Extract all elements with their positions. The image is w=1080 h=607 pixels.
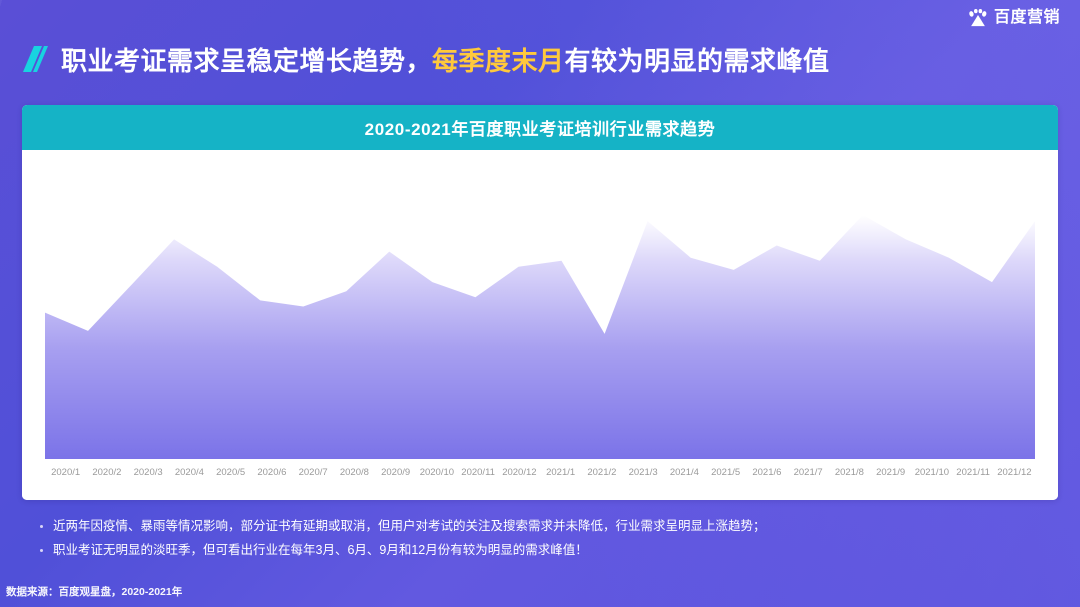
bullet-text: 职业考证无明显的淡旺季，但可看出行业在每年3月、6月、9月和12月份有较为明显的… (53, 540, 588, 561)
page-headline: 职业考证需求呈稳定增长趋势，每季度末月有较为明显的需求峰值 (22, 38, 1060, 80)
baidu-marketing-logo: 百度营销 (968, 9, 1060, 27)
x-axis-tick: 2020/7 (293, 462, 334, 484)
x-axis-tick: 2021/11 (953, 462, 994, 484)
x-axis-tick: 2020/1 (45, 462, 86, 484)
bullet-dot-icon (40, 525, 43, 528)
x-axis-tick: 2021/8 (829, 462, 870, 484)
list-item: 近两年因疫情、暴雨等情况影响，部分证书有延期或取消，但用户对考试的关注及搜索需求… (40, 516, 1050, 537)
area-chart (45, 154, 1035, 459)
insight-bullets: 近两年因疫情、暴雨等情况影响，部分证书有延期或取消，但用户对考试的关注及搜索需求… (40, 516, 1050, 564)
x-axis-tick: 2020/10 (416, 462, 457, 484)
chart-plot-area: 2020/12020/22020/32020/42020/52020/62020… (22, 150, 1058, 500)
x-axis-tick: 2020/12 (499, 462, 540, 484)
double-slash-icon (22, 44, 48, 74)
chart-title: 2020-2021年百度职业考证培训行业需求趋势 (365, 115, 716, 140)
x-axis-tick: 2020/11 (458, 462, 499, 484)
chart-card-header: 2020-2021年百度职业考证培训行业需求趋势 (22, 105, 1058, 150)
x-axis-tick: 2021/6 (746, 462, 787, 484)
x-axis-tick: 2021/4 (664, 462, 705, 484)
x-axis-tick: 2021/9 (870, 462, 911, 484)
headline-highlight: 每季度末月 (432, 46, 565, 76)
x-axis-tick: 2021/12 (994, 462, 1035, 484)
x-axis-tick: 2020/5 (210, 462, 251, 484)
headline-part2: 有较为明显的需求峰值 (565, 46, 830, 76)
x-axis-tick: 2020/6 (251, 462, 292, 484)
x-axis-tick: 2021/3 (623, 462, 664, 484)
x-axis-tick: 2020/2 (86, 462, 127, 484)
baidu-paw-icon (968, 9, 988, 27)
x-axis-tick: 2021/7 (788, 462, 829, 484)
x-axis-tick: 2021/1 (540, 462, 581, 484)
x-axis-tick: 2020/8 (334, 462, 375, 484)
x-axis-tick: 2021/5 (705, 462, 746, 484)
headline-part1: 职业考证需求呈稳定增长趋势， (61, 46, 432, 76)
chart-card: 2020-2021年百度职业考证培训行业需求趋势 2020/12020/2202… (22, 105, 1058, 500)
x-axis-tick: 2020/9 (375, 462, 416, 484)
x-axis-tick-labels: 2020/12020/22020/32020/42020/52020/62020… (45, 462, 1035, 484)
headline-text: 职业考证需求呈稳定增长趋势，每季度末月有较为明显的需求峰值 (61, 41, 830, 78)
data-source-note: 数据来源：百度观星盘，2020-2021年 (6, 584, 182, 599)
x-axis-tick: 2020/4 (169, 462, 210, 484)
list-item: 职业考证无明显的淡旺季，但可看出行业在每年3月、6月、9月和12月份有较为明显的… (40, 540, 1050, 561)
logo-text: 百度营销 (994, 9, 1060, 27)
x-axis-tick: 2021/10 (911, 462, 952, 484)
x-axis-tick: 2020/3 (128, 462, 169, 484)
x-axis-tick: 2021/2 (581, 462, 622, 484)
bullet-dot-icon (40, 549, 43, 552)
bullet-text: 近两年因疫情、暴雨等情况影响，部分证书有延期或取消，但用户对考试的关注及搜索需求… (53, 516, 766, 537)
area-chart-svg (45, 154, 1035, 459)
